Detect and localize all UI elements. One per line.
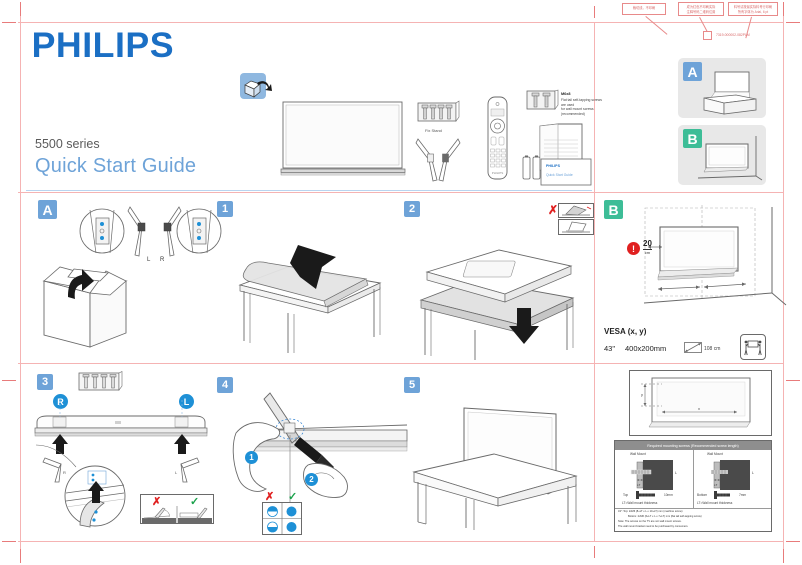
qsg-card xyxy=(541,159,591,185)
qsg-card-title: Quick Start Guide xyxy=(546,173,573,178)
wall-mount-dim-diagram: y x xyxy=(632,372,769,434)
screw-code-label: M6x8 xyxy=(561,92,571,97)
crop-mark-col-top xyxy=(594,6,595,18)
step-2-warning-art-2 xyxy=(560,220,592,234)
mount-table-col-divider xyxy=(693,450,694,508)
step-2-warning-art-1 xyxy=(560,204,592,217)
step-3-right-label: R xyxy=(52,393,69,410)
trim-line-mid xyxy=(18,192,784,193)
svg-text:LT: LT xyxy=(714,483,717,487)
mount-table-footnote-1: 43": Top: 2xM6 (8+LT ≤ L ≤ 10+LT) mm (ma… xyxy=(618,510,682,514)
svg-text:PHILIPS: PHILIPS xyxy=(492,171,504,175)
trim-line-mid2 xyxy=(18,363,784,364)
step-4-screw-grid-art xyxy=(263,503,301,534)
step-1-badge: 1 xyxy=(217,201,233,217)
step-3-screw-pack xyxy=(79,371,123,393)
leg-detail-callouts-right: R xyxy=(147,205,227,270)
quick-start-guide-page: 裁切线，不印刷 成为红色不印刷实际 注释号码二维码位置 料号请按最实际料号行印刷… xyxy=(0,0,802,565)
crop-mark-br-h xyxy=(786,541,800,542)
crop-mark-tl-v xyxy=(20,2,21,16)
clearance-value-group: 20 cm xyxy=(643,240,652,255)
wall-screw-pack xyxy=(527,90,559,112)
trim-line-bottom xyxy=(18,541,784,542)
svg-text:LT: LT xyxy=(637,483,640,487)
crop-mark-tl-h xyxy=(2,22,16,23)
qsg-card-brand: PHILIPS xyxy=(546,164,560,169)
mount-table-footnote-4: The wall mount bracket need to be purcha… xyxy=(618,525,688,529)
tv-panel xyxy=(281,102,406,182)
step-3-detail-magnifier xyxy=(62,463,128,529)
remote-control: PHILIPS xyxy=(487,96,509,180)
unbox-illustration xyxy=(38,265,138,350)
vesa-size: 43" xyxy=(604,344,615,353)
wall-mount-diagram xyxy=(640,205,790,330)
clearance-value: 20 xyxy=(643,240,652,250)
mount-table-col1-wall-label: Wall Mount xyxy=(630,452,646,456)
step-4-illustration xyxy=(222,385,407,510)
step-2-badge: 2 xyxy=(404,201,420,217)
crop-mark-bl-h xyxy=(2,541,16,542)
table-stand-mount-illustration xyxy=(698,70,764,116)
mount-table-col2-art: L LT xyxy=(702,458,768,494)
crop-mark-tr-v xyxy=(783,2,784,16)
mount-table-footer-divider xyxy=(615,508,771,509)
clearance-unit: cm xyxy=(643,250,652,255)
stand-legs xyxy=(416,137,476,183)
step-5-illustration xyxy=(408,400,583,530)
vesa-diagonal: 108 cm xyxy=(704,346,720,352)
mount-table-col2-wall-label: Wall Mount xyxy=(707,452,723,456)
step-3-compare-art xyxy=(141,506,213,523)
fix-stand-label: Fix Stand xyxy=(425,128,442,133)
open-box-icon xyxy=(240,73,274,107)
part-number: 7319-000002-082PLM xyxy=(716,33,750,38)
mount-table-col1-thickness-note: LT=Wall mount thickness xyxy=(622,501,657,505)
philips-logo: PHILIPS xyxy=(32,26,174,66)
stand-screw-pack xyxy=(418,101,460,125)
qr-placeholder-frame xyxy=(703,31,712,40)
prepress-note-3: 料号请按最实际料号行印刷 所有字体为 Arial, 6 pt xyxy=(728,2,778,16)
vesa-pattern: 400x200mm xyxy=(625,344,666,353)
page-title: Quick Start Guide xyxy=(35,155,196,178)
step-4-hand-label-1: 1 xyxy=(245,451,258,464)
trim-line-top xyxy=(18,22,784,23)
svg-text:R: R xyxy=(160,257,165,263)
crop-mark-midleft xyxy=(2,380,16,381)
step-3-badge: 3 xyxy=(37,374,53,390)
mount-table-footnote-2: Bottom: 2xM6 (6+LT ≤ L ≤ 7+LT) mm (flat … xyxy=(628,515,702,519)
svg-text:y: y xyxy=(641,392,643,397)
crop-mark-tr-h xyxy=(786,22,800,23)
mount-table-col2-screw-type: Bottom xyxy=(697,493,707,497)
crop-mark-midright xyxy=(786,380,800,381)
crop-mark-bl-v xyxy=(20,549,21,563)
mount-table-col1-art: L LT xyxy=(625,458,691,494)
mount-table-col2-screw-len: 7mm xyxy=(739,493,746,497)
svg-text:x: x xyxy=(698,406,700,411)
wall-mount-illustration xyxy=(694,134,764,182)
step-5-badge: 5 xyxy=(404,377,420,393)
tv-diagonal-icon xyxy=(684,342,702,354)
clearance-alert-icon: ! xyxy=(627,242,640,255)
blue-guide-header xyxy=(26,190,592,191)
vesa-title: VESA (x, y) xyxy=(604,327,646,336)
two-person-lift-icon xyxy=(743,337,763,357)
mount-table-col1-screw-len: 10mm xyxy=(664,493,673,497)
svg-text:L: L xyxy=(175,470,178,475)
step-2-x-mark: ✗ xyxy=(548,203,558,217)
svg-text:L: L xyxy=(675,471,677,475)
screw-description: Flat tail self-tapping screws are used f… xyxy=(561,98,607,116)
svg-text:L: L xyxy=(752,471,754,475)
crop-mark-col-bottom xyxy=(594,546,595,558)
mount-table-col1-screw-type: Top xyxy=(623,493,628,497)
trim-line-left xyxy=(20,10,21,555)
step-1-illustration xyxy=(228,245,388,355)
prepress-note-2: 成为红色不印刷实际 注释号码二维码位置 xyxy=(678,2,724,16)
mount-table-header: Required mounting screws (Recommended sc… xyxy=(615,441,771,450)
section-a-badge: A xyxy=(38,200,57,219)
prepress-leader-1 xyxy=(646,16,668,35)
step-3-magnifier-leader-top xyxy=(36,443,96,469)
mount-table-col2-thickness-note: LT=Wall mount thickness xyxy=(697,501,732,505)
series-label: 5500 series xyxy=(35,137,100,151)
mount-table-col2-screw-icon xyxy=(714,491,738,499)
step-2-illustration xyxy=(413,250,583,360)
step-4-hand-label-2: 2 xyxy=(305,473,318,486)
prepress-note-1: 裁切线，不印刷 xyxy=(622,3,666,15)
section-b-badge: B xyxy=(604,200,623,219)
step-3-left-label: L xyxy=(178,393,195,410)
mount-table-footnote-3: Note: The screws on the TV are not wall … xyxy=(618,520,681,524)
mount-table-col1-screw-icon xyxy=(636,491,662,499)
crop-mark-br-v xyxy=(783,549,784,563)
